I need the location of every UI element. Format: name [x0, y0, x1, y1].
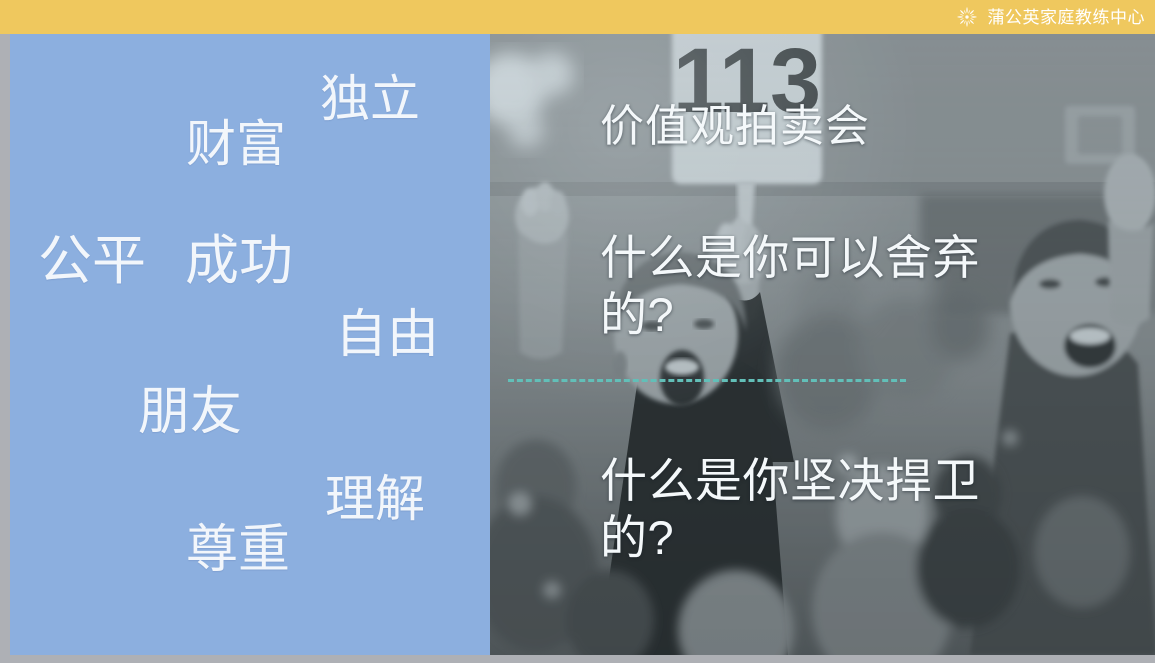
- value-word-lijie: 理解: [325, 474, 425, 524]
- value-word-duli: 独立: [320, 74, 420, 124]
- question-two: 什么是你坚决捍卫的?: [600, 452, 1040, 567]
- value-word-gongping: 公平: [38, 234, 146, 288]
- slide-body: 独立 财富 公平 成功 自由 朋友 理解 尊重: [0, 34, 1155, 663]
- brand-header: 蒲公英家庭教练中心: [0, 0, 1155, 34]
- question-one: 什么是你可以舍弃的?: [600, 229, 1040, 344]
- auction-title: 价值观拍卖会: [600, 100, 870, 154]
- values-word-cloud-panel: 独立 财富 公平 成功 自由 朋友 理解 尊重: [10, 34, 490, 655]
- auction-photo-panel: 113: [490, 34, 1155, 655]
- dashed-divider: [508, 379, 906, 382]
- brand-name: 蒲公英家庭教练中心: [988, 9, 1146, 26]
- value-word-chenggong: 成功: [185, 234, 293, 288]
- brand-lockup: 蒲公英家庭教练中心: [953, 3, 1146, 31]
- value-word-zunzhong: 尊重: [186, 524, 290, 576]
- slide-canvas: 蒲公英家庭教练中心 独立 财富 公平 成功 自由 朋友 理解 尊重: [0, 0, 1155, 663]
- value-word-caifu: 财富: [186, 119, 286, 169]
- value-word-ziyou: 自由: [335, 309, 439, 361]
- dandelion-icon: [953, 3, 981, 31]
- value-word-pengyou: 朋友: [138, 386, 242, 438]
